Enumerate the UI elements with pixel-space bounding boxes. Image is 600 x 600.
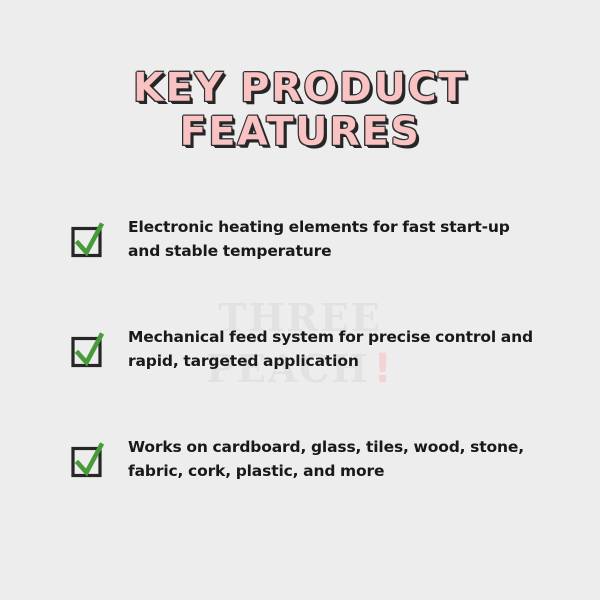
feature-item-2-label: Mechanical feed system for precise contr… [128, 325, 600, 373]
page-title: KEY PRODUCT FEATURES [0, 66, 600, 154]
page-title-line-1: KEY PRODUCT [0, 66, 600, 110]
feature-item-3: Works on cardboard, glass, tiles, wood, … [0, 425, 600, 535]
checkbox-checked-icon [70, 327, 104, 367]
feature-item-1-label: Electronic heating elements for fast sta… [128, 215, 600, 263]
key-product-features-poster: THREE PEACH! KEY PRODUCT FEATURES Electr… [0, 0, 600, 600]
feature-item-3-label: Works on cardboard, glass, tiles, wood, … [128, 435, 600, 483]
checkbox-checked-icon [70, 437, 104, 477]
feature-item-2: Mechanical feed system for precise contr… [0, 315, 600, 425]
checkbox-checked-icon [70, 217, 104, 257]
feature-list: Electronic heating elements for fast sta… [0, 205, 600, 535]
page-title-line-2: FEATURES [0, 110, 600, 154]
feature-item-1: Electronic heating elements for fast sta… [0, 205, 600, 315]
